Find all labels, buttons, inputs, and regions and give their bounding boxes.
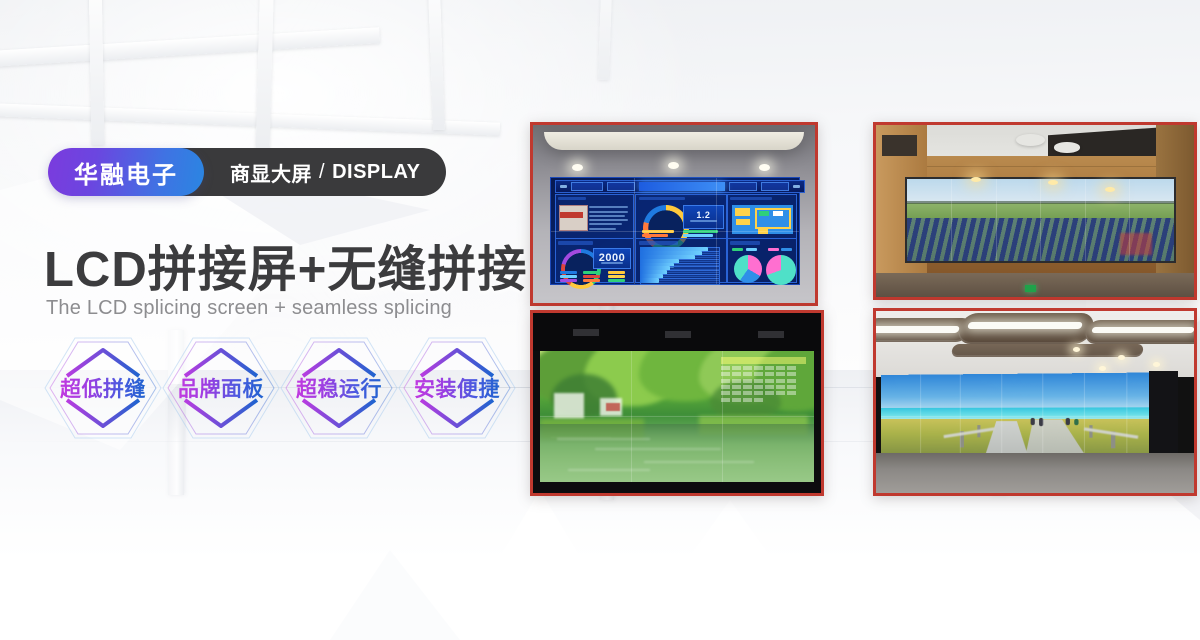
brand-badge: 商显大屏 / DISPLAY 华融电子: [48, 148, 204, 196]
feature-list: 超低拼缝 品牌面板 超稳运行: [44, 336, 516, 440]
feature-label: 超低拼缝: [60, 373, 146, 403]
page-title: LCD拼接屏+无缝拼接: [44, 230, 527, 301]
feature-hexagon: 品牌面板: [162, 336, 280, 440]
product-banner: 商显大屏 / DISPLAY 华融电子 LCD拼接屏+无缝拼接 The LCD …: [0, 0, 1200, 640]
category-separator: /: [319, 161, 325, 184]
feature-hexagon: 超低拼缝: [44, 336, 162, 440]
category-label-en: DISPLAY: [332, 161, 420, 184]
photo-garden-scene-video-wall: [530, 310, 824, 496]
photo-solar-farm-video-wall: [873, 122, 1197, 300]
feature-label: 安装便捷: [414, 373, 500, 403]
feature-hexagon: 安装便捷: [398, 336, 516, 440]
feature-label: 超稳运行: [296, 373, 382, 403]
brand-name-pill: 华融电子: [48, 148, 204, 196]
feature-hexagon: 超稳运行: [280, 336, 398, 440]
ceiling-beam: [88, 0, 104, 145]
feature-label: 品牌面板: [178, 373, 264, 403]
category-label-cn: 商显大屏: [230, 158, 312, 187]
page-subtitle: The LCD splicing screen + seamless splic…: [46, 297, 452, 320]
photo-dashboard-video-wall: 1.2: [530, 122, 818, 306]
photo-beach-boardwalk-video-wall: [873, 308, 1197, 496]
